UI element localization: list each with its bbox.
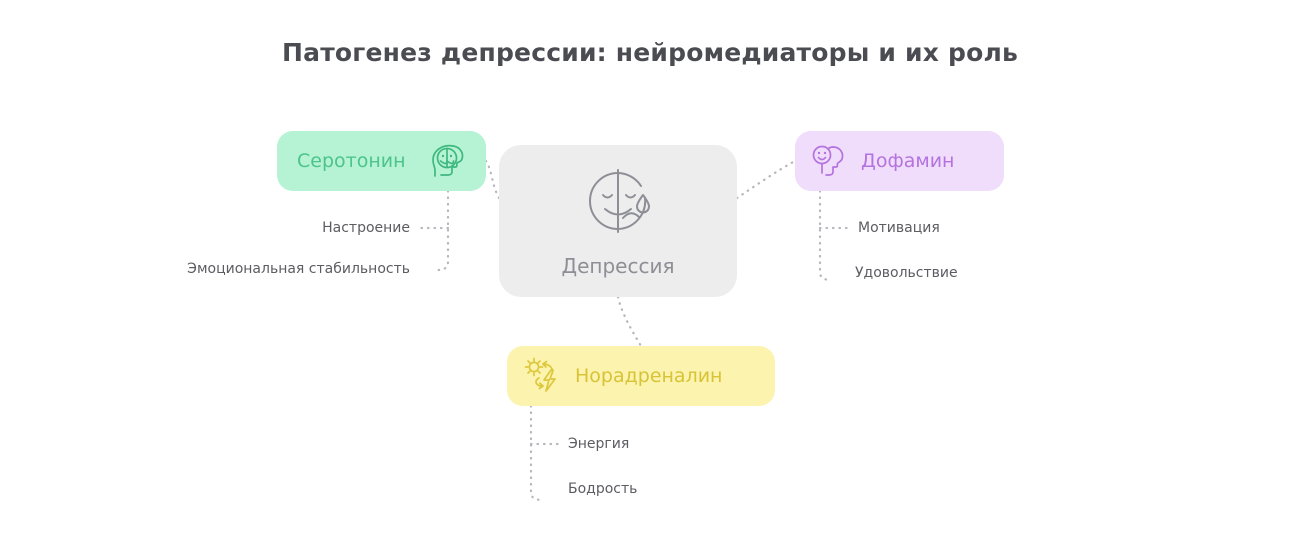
node-noradrenaline[interactable]: Норадреналин <box>507 346 775 406</box>
leaf-dopamine-motivation: Мотивация <box>858 220 940 236</box>
diagram-canvas: Патогенез депрессии: нейромедиаторы и их… <box>0 0 1300 546</box>
leaf-noradrenaline-vigor: Бодрость <box>568 481 637 497</box>
connector-center-serotonin <box>486 161 499 198</box>
leaf-serotonin-mood: Настроение <box>160 220 410 236</box>
connector-dopamine-trunk <box>820 191 832 280</box>
leaf-serotonin-emotional-stability: Эмоциональная стабильность <box>130 261 410 277</box>
connector-noradrenaline-trunk <box>531 406 543 500</box>
connector-serotonin-trunk <box>437 191 448 270</box>
node-depression[interactable]: Депрессия <box>499 145 737 297</box>
node-dopamine-label: Дофамин <box>861 150 954 172</box>
leaf-noradrenaline-energy: Энергия <box>568 436 629 452</box>
node-serotonin-label: Серотонин <box>297 150 406 172</box>
sun-lightning-energy-icon <box>521 354 565 398</box>
split-face-happy-sad-icon <box>581 164 655 238</box>
leaf-dopamine-pleasure: Удовольствие <box>855 265 958 281</box>
node-dopamine[interactable]: Дофамин <box>795 131 1004 191</box>
head-profile-face-icon <box>428 141 468 181</box>
node-noradrenaline-label: Норадреналин <box>575 365 722 387</box>
connector-center-dopamine <box>737 161 795 198</box>
node-serotonin[interactable]: Серотонин <box>277 131 486 191</box>
head-profile-smiley-icon <box>809 141 849 181</box>
page-title: Патогенез депрессии: нейромедиаторы и их… <box>0 38 1300 67</box>
node-depression-label: Депрессия <box>561 254 674 278</box>
connector-center-noradrenaline <box>618 297 641 346</box>
